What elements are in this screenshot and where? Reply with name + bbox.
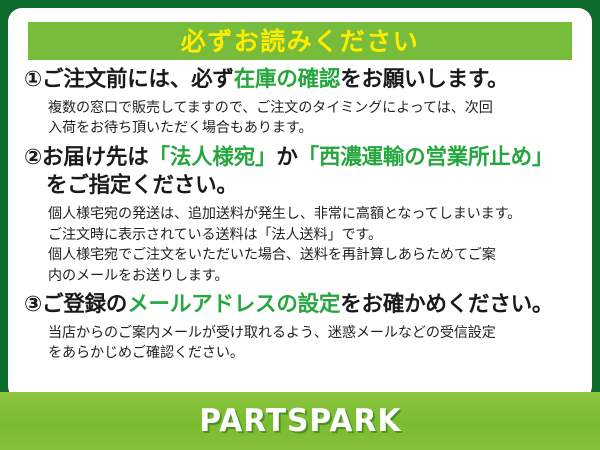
headline-highlight: 「法人様宛」	[149, 145, 277, 170]
notice-banner: 必ずお読みください ①ご注文前には、必ず在庫の確認をお願いします。複数の窓口で販…	[0, 0, 600, 450]
headline-text: をお確かめください。	[340, 292, 553, 317]
headline-text: ご登録の	[42, 292, 127, 317]
notice-title: 必ずお読みください	[181, 29, 420, 54]
notice-item-headline: ①ご注文前には、必ず在庫の確認をお願いします。	[24, 66, 578, 95]
notice-detail-line: 複数の窓口で販売してますので、ご注文のタイミングによっては、次回	[48, 98, 578, 118]
notice-item-headline: ②お届け先は「法人様宛」か「西濃運輸の営業所止め」	[24, 144, 578, 173]
headline-text: お届け先は	[42, 145, 149, 170]
headline-highlight: メールアドレスの設定	[127, 292, 340, 317]
notice-item-detail: 複数の窓口で販売してますので、ご注文のタイミングによっては、次回入荷をお待ち頂い…	[24, 98, 578, 139]
notice-item-number: ③	[24, 292, 42, 317]
notice-item: ③ご登録のメールアドレスの設定をお確かめください。当店からのご案内メールが受け取…	[8, 291, 592, 364]
brand-logo-text: PARTSPARK	[199, 403, 401, 439]
notice-item-detail: 個人様宅宛の発送は、追加送料が発生し、非常に高額となってしまいます。ご注文時に表…	[24, 204, 578, 286]
notice-item-list: ①ご注文前には、必ず在庫の確認をお願いします。複数の窓口で販売してますので、ご注…	[8, 66, 592, 364]
notice-title-banner: 必ずお読みください	[28, 22, 572, 60]
notice-detail-line: ご注文時に表示されている送料は「法人送料」です。	[48, 225, 578, 245]
notice-detail-line: 内のメールをお送りします。	[48, 266, 578, 286]
headline-text: をお願いします。	[340, 67, 508, 92]
notice-detail-line: 入荷をお待ち頂いただく場合もあります。	[48, 118, 578, 138]
notice-item: ②お届け先は「法人様宛」か「西濃運輸の営業所止め」をご指定ください。個人様宅宛の…	[8, 144, 592, 286]
headline-text: ご注文前には、必ず	[42, 67, 234, 92]
notice-item-headline: ③ご登録のメールアドレスの設定をお確かめください。	[24, 291, 578, 320]
notice-detail-line: 当店からのご案内メールが受け取れるよう、迷惑メールなどの受信設定	[48, 323, 578, 343]
notice-item-headline-continuation: をご指定ください。	[24, 172, 578, 201]
brand-footer: PARTSPARK	[0, 392, 600, 450]
notice-item-detail: 当店からのご案内メールが受け取れるよう、迷惑メールなどの受信設定をあらかじめご確…	[24, 323, 578, 364]
headline-highlight: 「西濃運輸の営業所止め」	[298, 145, 554, 170]
headline-text: か	[276, 145, 297, 170]
notice-item: ①ご注文前には、必ず在庫の確認をお願いします。複数の窓口で販売してますので、ご注…	[8, 66, 592, 139]
notice-detail-line: 個人様宅宛でご注文をいただいた場合、送料を再計算しあらためてご案	[48, 245, 578, 265]
notice-detail-line: 個人様宅宛の発送は、追加送料が発生し、非常に高額となってしまいます。	[48, 204, 578, 224]
notice-item-number: ①	[24, 67, 42, 92]
notice-panel: 必ずお読みください ①ご注文前には、必ず在庫の確認をお願いします。複数の窓口で販…	[8, 8, 592, 400]
notice-item-number: ②	[24, 145, 42, 170]
headline-highlight: 在庫の確認	[234, 67, 341, 92]
notice-detail-line: をあらかじめご確認ください。	[48, 343, 578, 363]
